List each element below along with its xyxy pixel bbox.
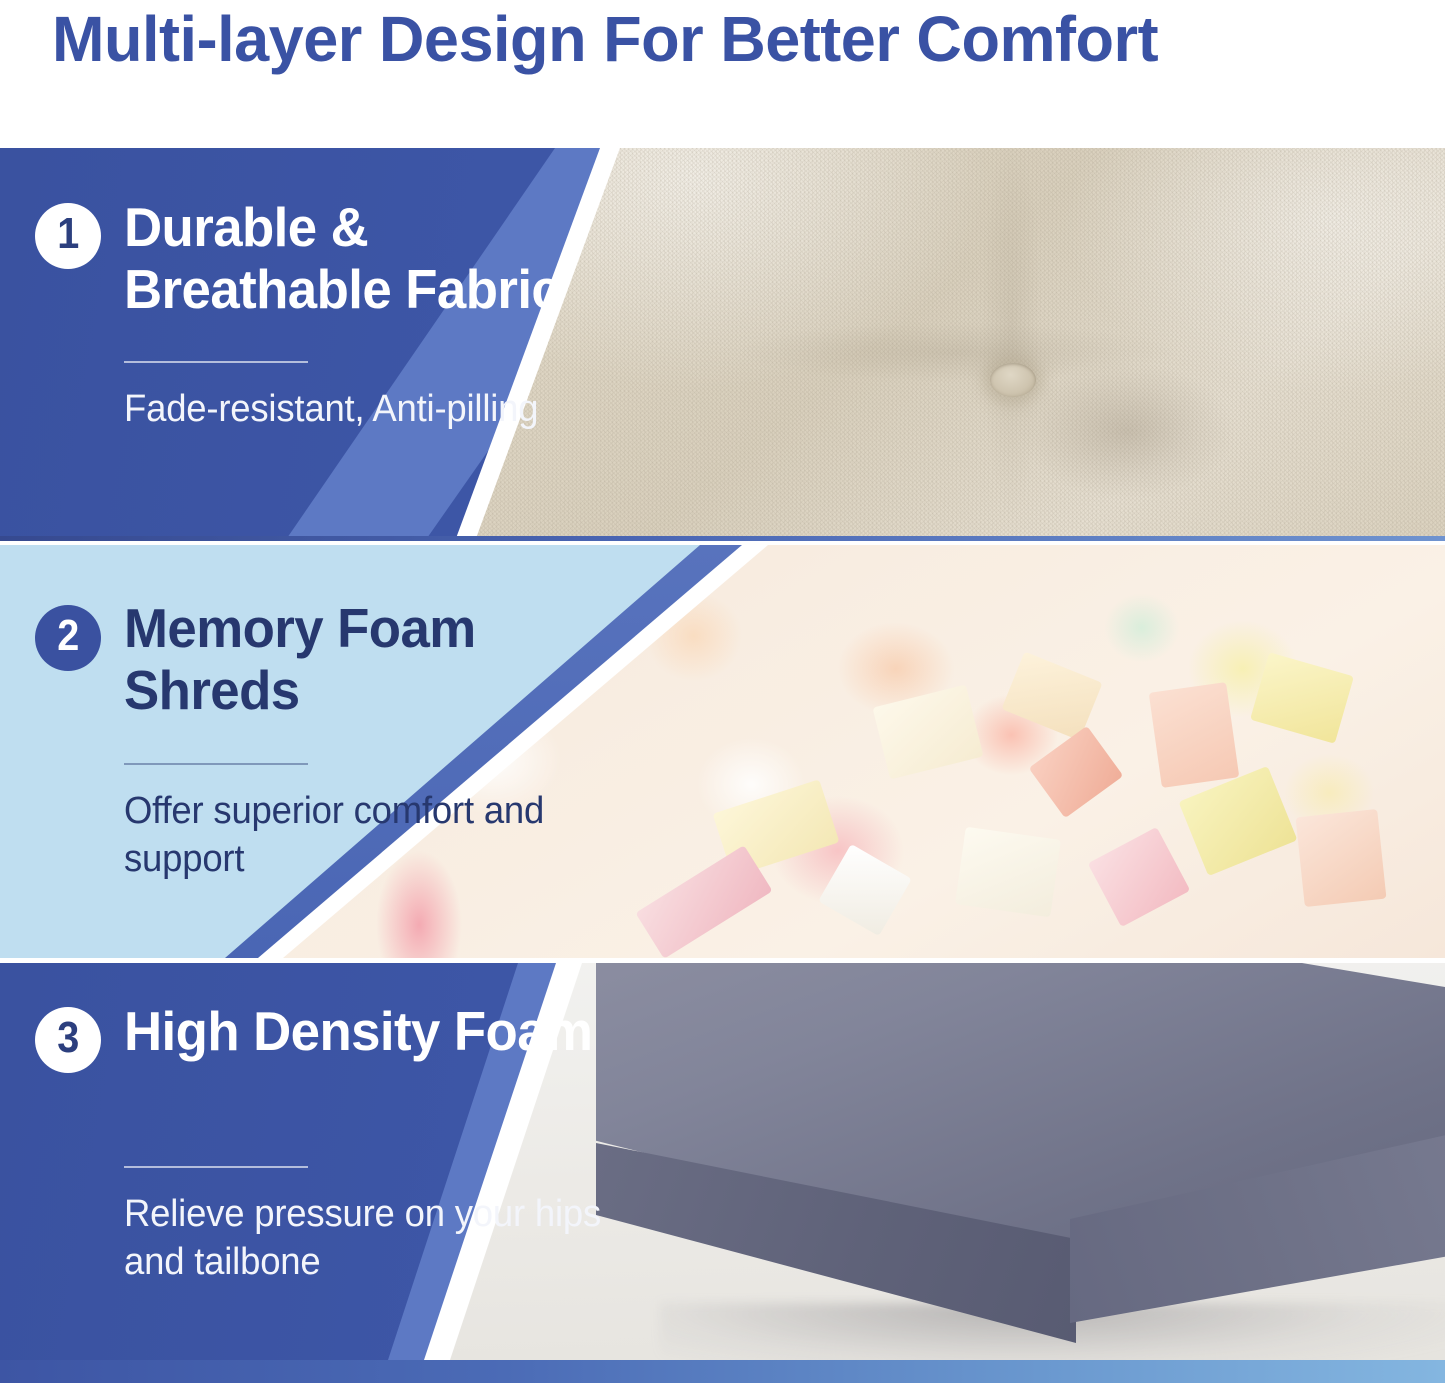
foam-chip: [1029, 726, 1124, 818]
layer-heading-2: Memory Foam Shreds: [124, 597, 639, 721]
layer-subtext-1: Fade-resistant, Anti-pilling: [124, 385, 538, 433]
layer-subtext-2: Offer superior comfort and support: [124, 787, 639, 883]
layer-number-badge-3: 3: [35, 1007, 101, 1073]
layer-panel-3: 3 High Density Foam Relieve pressure on …: [0, 963, 1445, 1360]
foam-chip: [1296, 809, 1387, 907]
layer-divider-2: [124, 763, 308, 765]
foam-chip: [872, 684, 983, 779]
layer-divider-3: [124, 1166, 308, 1168]
layer-panel-2: 2 Memory Foam Shreds Offer superior comf…: [0, 545, 1445, 958]
title-bar: Multi-layer Design For Better Comfort: [0, 0, 1445, 120]
layer-divider-1: [124, 361, 308, 363]
panel-1-bottom-strip: [0, 536, 1445, 541]
layer-subtext-3: Relieve pressure on your hips and tailbo…: [124, 1190, 639, 1286]
layer-heading-3: High Density Foam: [124, 1000, 592, 1062]
foam-chip: [1250, 652, 1354, 744]
foam-chip: [818, 844, 912, 936]
bottom-gradient-band: [0, 1360, 1445, 1383]
foam-chip: [1088, 827, 1191, 927]
foam-chip: [955, 827, 1061, 918]
layer-number-2: 2: [57, 614, 79, 658]
fabric-tuft-button: [990, 363, 1036, 397]
layer-number-badge-1: 1: [35, 203, 101, 269]
foam-chip: [1149, 682, 1240, 788]
foam-chip: [635, 845, 772, 958]
layer-number-1: 1: [57, 212, 79, 256]
layer-panel-1: 1 Durable & Breathable Fabric Fade-resis…: [0, 148, 1445, 541]
page-title: Multi-layer Design For Better Comfort: [52, 2, 1158, 76]
layer-number-3: 3: [57, 1016, 79, 1060]
layer-number-badge-2: 2: [35, 605, 101, 671]
layer-heading-1: Durable & Breathable Fabric: [124, 196, 639, 320]
